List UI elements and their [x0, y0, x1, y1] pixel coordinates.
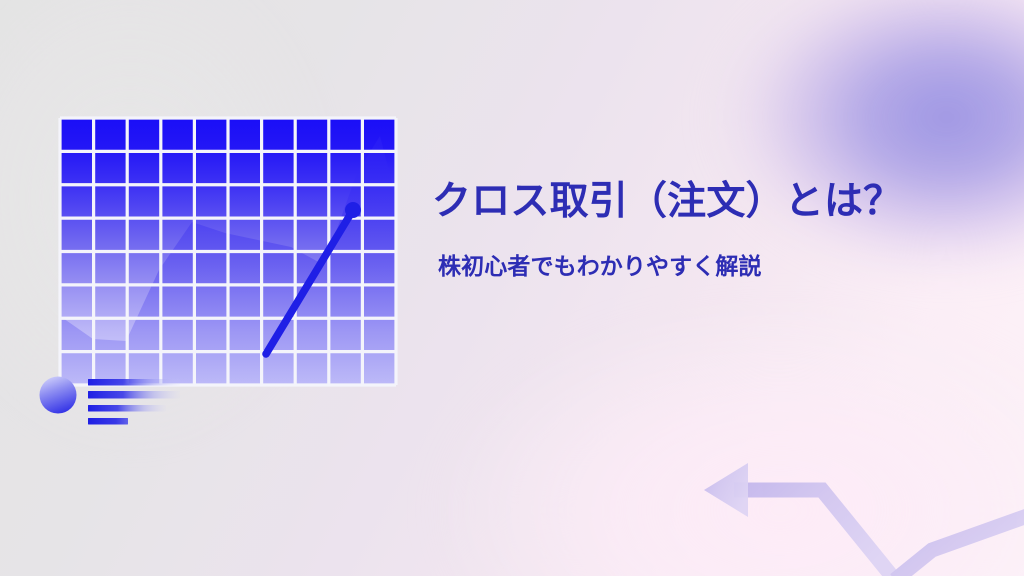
legend-bar-2 — [88, 391, 180, 399]
legend-bar-4 — [88, 418, 128, 425]
slide-canvas: クロス取引（注文）とは？ 株初心者でもわかりやすく解説 — [0, 0, 1024, 576]
trend-peak-marker — [345, 202, 361, 218]
page-subtitle: 株初心者でもわかりやすく解説 — [438, 252, 952, 281]
legend-bar-3 — [88, 405, 166, 412]
legend-bar-1 — [88, 379, 180, 386]
arrow-head-icon — [704, 463, 748, 517]
page-title: クロス取引（注文）とは？ — [432, 178, 952, 226]
chart-grid — [60, 118, 396, 385]
chart-graphic — [28, 108, 428, 438]
chart-svg — [28, 108, 428, 438]
left-arrow-icon — [690, 430, 1024, 576]
title-block: クロス取引（注文）とは？ 株初心者でもわかりやすく解説 — [432, 178, 952, 280]
gradient-circle-icon — [40, 377, 77, 414]
